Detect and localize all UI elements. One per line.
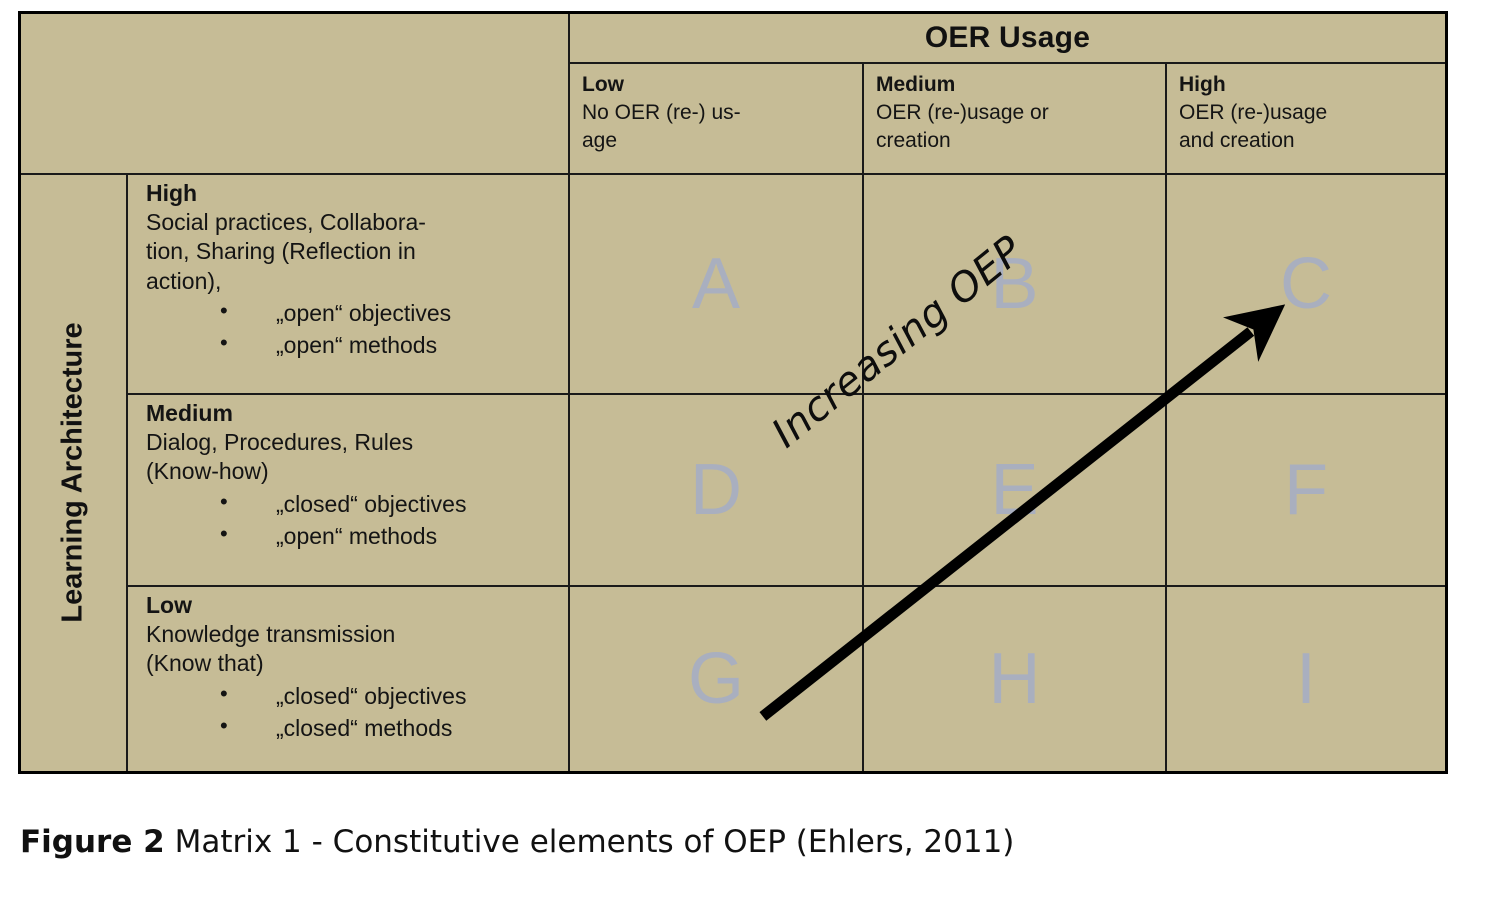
row-header-high: High Social practices, Collabora- tion, … (128, 175, 570, 393)
row-header-high-bullets: „open“ objectives „open“ methods (146, 299, 564, 360)
column-header-high: High OER (re-)usage and creation (1167, 64, 1445, 174)
row-header-low-description: Knowledge transmission (Know that) (146, 620, 564, 678)
column-header-high-description: OER (re-)usage and creation (1179, 99, 1445, 155)
row-axis-title: Learning Architecture (21, 173, 126, 771)
column-header-low: Low No OER (re-) us- age (570, 64, 862, 174)
matrix-cell-i: I (1167, 587, 1445, 771)
figure-caption-label: Figure 2 (20, 824, 165, 860)
column-axis-title: OER Usage (570, 14, 1445, 62)
figure-caption-text: Matrix 1 - Constitutive elements of OEP … (165, 824, 1015, 860)
row-header-low-bullets: „closed“ objectives „closed“ methods (146, 682, 564, 743)
matrix-cell-g: G (570, 587, 862, 771)
matrix-cell-a: A (570, 175, 862, 393)
column-header-high-level: High (1179, 71, 1445, 99)
oep-matrix-table: OER Usage Low No OER (re-) us- age Mediu… (18, 11, 1448, 774)
row-header-medium-description: Dialog, Procedures, Rules (Know-how) (146, 428, 564, 486)
list-item: „open“ objectives (220, 299, 564, 328)
column-header-low-description: No OER (re-) us- age (582, 99, 862, 155)
row-header-medium: Medium Dialog, Procedures, Rules (Know-h… (128, 395, 570, 585)
list-item: „open“ methods (220, 331, 564, 360)
row-header-low: Low Knowledge transmission (Know that) „… (128, 587, 570, 771)
row-header-low-level: Low (146, 591, 564, 620)
list-item: „open“ methods (220, 522, 564, 551)
row-header-medium-bullets: „closed“ objectives „open“ methods (146, 490, 564, 551)
figure-caption: Figure 2 Matrix 1 - Constitutive element… (20, 824, 1014, 860)
column-header-low-level: Low (582, 71, 862, 99)
matrix-cell-f: F (1167, 395, 1445, 585)
row-header-high-description: Social practices, Collabora- tion, Shari… (146, 208, 564, 296)
list-item: „closed“ methods (220, 714, 564, 743)
figure-2-container: OER Usage Low No OER (re-) us- age Mediu… (0, 0, 1488, 904)
column-header-medium-description: OER (re-)usage or creation (876, 99, 1165, 155)
column-header-medium: Medium OER (re-)usage or creation (864, 64, 1165, 174)
list-item: „closed“ objectives (220, 490, 564, 519)
matrix-cell-h: H (864, 587, 1165, 771)
row-header-high-level: High (146, 179, 564, 208)
list-item: „closed“ objectives (220, 682, 564, 711)
row-header-medium-level: Medium (146, 399, 564, 428)
matrix-cell-e: E (864, 395, 1165, 585)
column-header-medium-level: Medium (876, 71, 1165, 99)
matrix-cell-c: C (1167, 175, 1445, 393)
row-axis-title-label: Learning Architecture (57, 322, 90, 622)
